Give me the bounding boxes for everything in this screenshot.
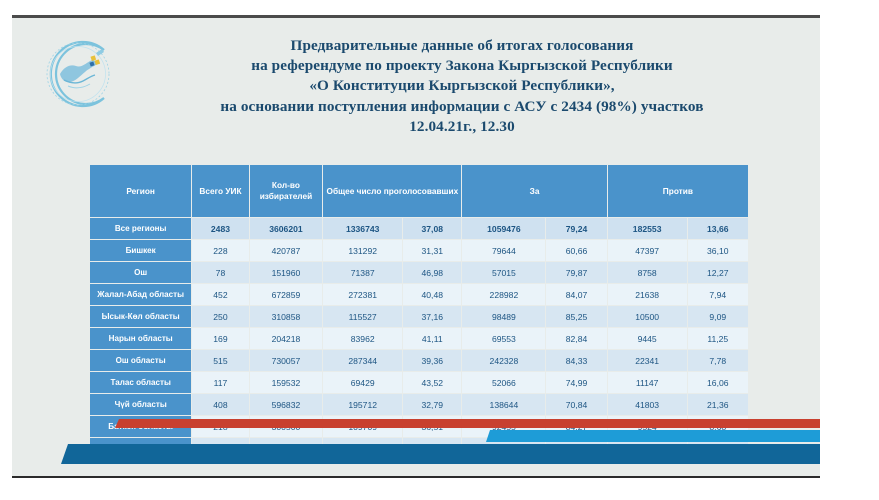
cell-total-uik: 169: [192, 328, 249, 350]
title-line-4: на основании поступления информации с АС…: [212, 97, 712, 117]
cell-voters: 730057: [249, 350, 323, 372]
presentation-slide: Предварительные данные об итогах голосов…: [12, 15, 820, 478]
title-timestamp: 12.04.21г., 12.30: [212, 117, 712, 137]
cell-against-count: 22341: [607, 350, 687, 372]
cell-region: Все регионы: [90, 218, 192, 240]
cell-turnout-percent: 37,08: [403, 218, 462, 240]
cell-for-percent: 74,99: [546, 372, 607, 394]
cell-against-count: 47397: [607, 240, 687, 262]
cell-for-count: 98489: [462, 306, 546, 328]
cell-against-percent: 12,27: [687, 262, 748, 284]
cell-turnout-percent: 41,11: [403, 328, 462, 350]
cell-against-percent: 7,94: [687, 284, 748, 306]
cell-against-percent: 36,10: [687, 240, 748, 262]
cell-region: Жалал-Абад областы: [90, 284, 192, 306]
cell-against-count: 21638: [607, 284, 687, 306]
cell-voters: 420787: [249, 240, 323, 262]
cell-total-uik: 452: [192, 284, 249, 306]
cell-turnout-percent: 40,48: [403, 284, 462, 306]
title-line-1: Предварительные данные об итогах голосов…: [212, 36, 712, 56]
cell-against-count: 9445: [607, 328, 687, 350]
cell-turnout-count: 69429: [323, 372, 403, 394]
bar-red: [115, 419, 820, 428]
cell-turnout-percent: 31,31: [403, 240, 462, 262]
cell-voters: 310858: [249, 306, 323, 328]
cell-for-count: 69553: [462, 328, 546, 350]
cell-for-percent: 84,33: [546, 350, 607, 372]
table-row: Ош781519607138746,985701579,87875812,27: [90, 262, 749, 284]
cell-total-uik: 2483: [192, 218, 249, 240]
cell-turnout-count: 1336743: [323, 218, 403, 240]
table-row: Жалал-Абад областы45267285927238140,4822…: [90, 284, 749, 306]
cell-against-percent: 11,25: [687, 328, 748, 350]
cell-total-uik: 228: [192, 240, 249, 262]
cell-turnout-percent: 46,98: [403, 262, 462, 284]
table-row: Талас областы1171595326942943,525206674,…: [90, 372, 749, 394]
table-row: Ош областы51573005728734439,3624232884,3…: [90, 350, 749, 372]
header-against: Против: [607, 165, 748, 218]
header-turnout: Общее число проголосовавших: [323, 165, 462, 218]
cell-total-uik: 78: [192, 262, 249, 284]
cell-against-percent: 9,09: [687, 306, 748, 328]
table-row: Ысык-Көл областы25031085811552737,169848…: [90, 306, 749, 328]
cell-turnout-count: 287344: [323, 350, 403, 372]
cell-turnout-count: 83962: [323, 328, 403, 350]
title-line-2: на референдуме по проекту Закона Кыргызс…: [212, 56, 712, 76]
cell-voters: 204218: [249, 328, 323, 350]
cell-turnout-percent: 39,36: [403, 350, 462, 372]
cell-region: Ысык-Көл областы: [90, 306, 192, 328]
cell-turnout-count: 115527: [323, 306, 403, 328]
cell-region: Бишкек: [90, 240, 192, 262]
cell-region: Талас областы: [90, 372, 192, 394]
cell-for-percent: 84,07: [546, 284, 607, 306]
cell-total-uik: 250: [192, 306, 249, 328]
cell-for-percent: 82,84: [546, 328, 607, 350]
table-row: Все регионы24833606201133674337,08105947…: [90, 218, 749, 240]
cell-for-percent: 85,25: [546, 306, 607, 328]
cell-against-percent: 7,78: [687, 350, 748, 372]
cell-voters: 3606201: [249, 218, 323, 240]
emblem-svg: [34, 30, 122, 118]
bar-light-blue: [486, 430, 820, 442]
bar-dark-blue: [61, 444, 820, 464]
cell-for-count: 79644: [462, 240, 546, 262]
cell-turnout-percent: 43,52: [403, 372, 462, 394]
cell-against-percent: 16,06: [687, 372, 748, 394]
cell-total-uik: 117: [192, 372, 249, 394]
cell-for-count: 52066: [462, 372, 546, 394]
cell-against-percent: 13,66: [687, 218, 748, 240]
cell-for-count: 1059476: [462, 218, 546, 240]
cell-voters: 151960: [249, 262, 323, 284]
cell-against-count: 11147: [607, 372, 687, 394]
cell-for-percent: 79,87: [546, 262, 607, 284]
cell-region: Нарын областы: [90, 328, 192, 350]
cell-region: Ош областы: [90, 350, 192, 372]
table-row: Бишкек22842078713129231,317964460,664739…: [90, 240, 749, 262]
header-region: Регион: [90, 165, 192, 218]
cell-for-count: 228982: [462, 284, 546, 306]
page-title: Предварительные данные об итогах голосов…: [212, 36, 712, 137]
header-voters: Кол-во избирателей: [249, 165, 323, 218]
decorative-bars: [12, 406, 820, 476]
cell-voters: 672859: [249, 284, 323, 306]
cell-against-count: 8758: [607, 262, 687, 284]
cell-for-percent: 60,66: [546, 240, 607, 262]
cell-turnout-count: 131292: [323, 240, 403, 262]
cell-for-count: 242328: [462, 350, 546, 372]
table-header-row: Регион Всего УИК Кол-во избирателей Обще…: [90, 165, 749, 218]
table-header: Регион Всего УИК Кол-во избирателей Обще…: [90, 165, 749, 218]
cell-total-uik: 515: [192, 350, 249, 372]
header-total-uik: Всего УИК: [192, 165, 249, 218]
cell-turnout-count: 272381: [323, 284, 403, 306]
cell-for-percent: 79,24: [546, 218, 607, 240]
cell-turnout-percent: 37,16: [403, 306, 462, 328]
cell-region: Ош: [90, 262, 192, 284]
title-line-3: «О Конституции Кыргызской Республики»,: [212, 76, 712, 96]
cec-kyrgyzstan-emblem-icon: [34, 30, 122, 118]
cell-voters: 159532: [249, 372, 323, 394]
cell-for-count: 57015: [462, 262, 546, 284]
cell-against-count: 10500: [607, 306, 687, 328]
header-for: За: [462, 165, 607, 218]
table-row: Нарын областы1692042188396241,116955382,…: [90, 328, 749, 350]
cell-against-count: 182553: [607, 218, 687, 240]
cell-turnout-count: 71387: [323, 262, 403, 284]
